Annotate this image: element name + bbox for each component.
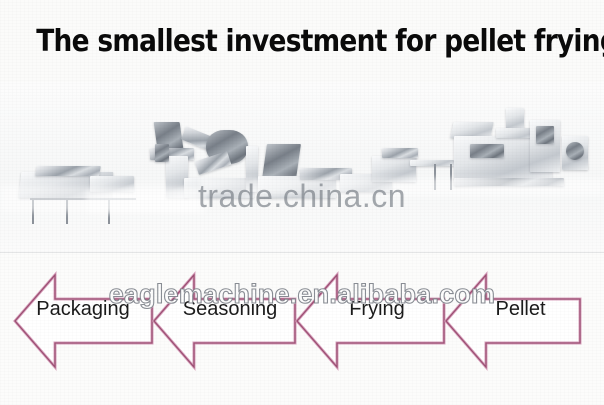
machine-extruder-chimney — [506, 108, 524, 130]
machine-seasoning-support — [195, 151, 232, 175]
flow-label-seasoning: Seasoning — [158, 295, 302, 323]
title-band: The smallest investment for pellet fryin… — [0, 0, 604, 82]
machine-mesh-rail — [410, 160, 454, 166]
flow-label-packaging: Packaging — [13, 295, 153, 323]
machine-motor-wheel — [566, 142, 584, 160]
flow-label-pellet: Pellet — [452, 295, 589, 323]
flow-label-frying: Frying — [302, 295, 452, 323]
machine-extruder-panel — [470, 144, 504, 158]
process-flow: Packaging Seasoning Frying Pellet — [0, 253, 604, 405]
machine-mesh-top — [382, 148, 418, 158]
machinery-photo — [0, 82, 604, 252]
machine-packaging-top — [35, 166, 101, 176]
poster-page: The smallest investment for pellet fryin… — [0, 0, 604, 405]
photo-watermark: trade.china.cn — [0, 178, 604, 215]
machine-seasoning-motor — [155, 144, 169, 162]
machine-control-screen — [536, 126, 554, 144]
page-title: The smallest investment for pellet fryin… — [36, 24, 568, 59]
